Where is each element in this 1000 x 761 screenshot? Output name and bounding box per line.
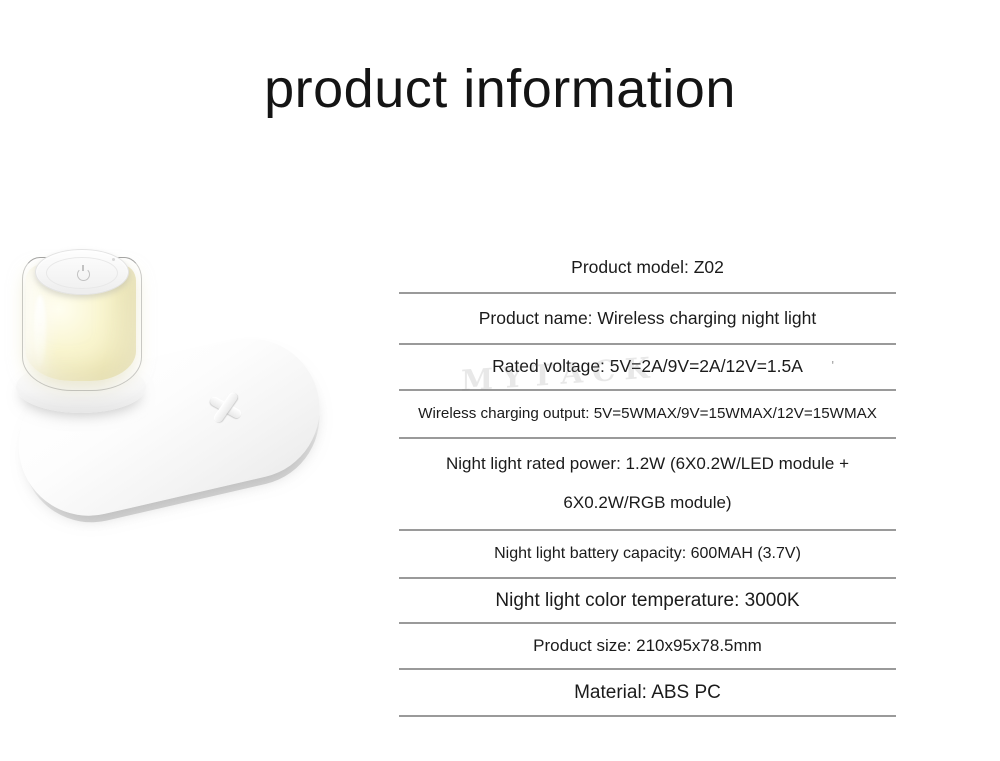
spec-row-color-temperature: Night light color temperature: 3000K xyxy=(399,579,896,624)
night-light-lamp xyxy=(22,243,140,403)
spec-row-wireless-output: Wireless charging output: 5V=5WMAX/9V=15… xyxy=(399,391,896,439)
spec-value-material: Material: ABS PC xyxy=(399,679,896,707)
page-title: product information xyxy=(0,58,1000,120)
lamp-top-cap xyxy=(35,249,129,295)
power-icon xyxy=(77,268,90,281)
lamp-highlight xyxy=(34,295,46,367)
spec-value-product-name: Product name: Wireless charging night li… xyxy=(399,306,896,331)
spec-row-rated-voltage: MYTACK Rated voltage: 5V=2A/9V=2A/12V=1.… xyxy=(399,345,896,391)
product-spec-table: Product model: Z02 Product name: Wireles… xyxy=(399,243,896,717)
spec-row-material: Material: ABS PC xyxy=(399,670,896,717)
spec-value-battery-capacity: Night light battery capacity: 600MAH (3.… xyxy=(399,542,896,565)
spec-value-product-model: Product model: Z02 xyxy=(399,255,896,280)
product-image xyxy=(0,225,360,525)
spec-value-rated-voltage: Rated voltage: 5V=2A/9V=2A/12V=1.5A xyxy=(399,354,896,379)
spec-row-battery-capacity: Night light battery capacity: 600MAH (3.… xyxy=(399,531,896,579)
spec-row-product-model: Product model: Z02 xyxy=(399,243,896,294)
spec-value-wireless-output: Wireless charging output: 5V=5WMAX/9V=15… xyxy=(399,403,896,425)
spec-value-color-temperature: Night light color temperature: 3000K xyxy=(399,587,896,615)
spec-row-product-name: Product name: Wireless charging night li… xyxy=(399,294,896,345)
spec-value-night-light-power-line2: 6X0.2W/RGB module) xyxy=(399,491,896,516)
spec-value-product-size: Product size: 210x95x78.5mm xyxy=(399,634,896,659)
spec-value-night-light-power: Night light rated power: 1.2W (6X0.2W/LE… xyxy=(399,452,896,515)
spec-row-product-size: Product size: 210x95x78.5mm xyxy=(399,624,896,670)
watermark-marker: ' xyxy=(832,358,834,373)
lamp-cap-inner xyxy=(46,257,118,289)
spec-row-night-light-power: Night light rated power: 1.2W (6X0.2W/LE… xyxy=(399,439,896,531)
spec-value-night-light-power-line1: Night light rated power: 1.2W (6X0.2W/LE… xyxy=(446,454,849,473)
cap-sensor-dot xyxy=(112,258,115,261)
product-image-stage xyxy=(0,225,360,525)
